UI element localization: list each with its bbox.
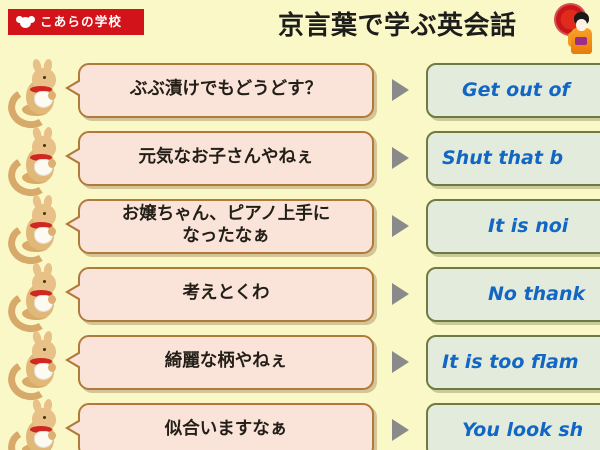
kyoto-phrase-text: 元気なお子さんやねぇ [129,147,324,169]
brand-ribbon[interactable]: こあらの学校 [8,9,144,35]
kyoto-phrase-bubble[interactable]: お嬢ちゃん、ピアノ上手に なったなぁ [78,199,374,254]
english-phrase-text: It is noi [428,215,568,238]
bubble-tail [65,79,80,97]
arrow-cell [374,419,426,441]
english-phrase-text: It is too flam [428,351,579,374]
bubble-tail [65,419,80,437]
english-phrase-panel[interactable]: It is noi [426,199,600,254]
maiko-with-parasol-icon [553,2,597,54]
kyoto-phrase-text: 綺麗な柄やねぇ [155,351,298,373]
page-header: こあらの学校 京言葉で学ぶ英会話 [0,0,600,56]
kyoto-phrase-bubble[interactable]: 考えとくわ [78,267,374,322]
play-arrow-icon [392,147,409,169]
kyoto-phrase-bubble[interactable]: 綺麗な柄やねぇ [78,335,374,390]
kyoto-phrase-text: ぶぶ漬けでもどうどす？ [120,79,332,101]
english-phrase-panel[interactable]: No thank [426,267,600,322]
kyoto-phrase-text: お嬢ちゃん、ピアノ上手に なったなぁ [112,204,340,248]
play-arrow-icon [392,215,409,237]
english-phrase-panel[interactable]: Shut that b [426,131,600,186]
arrow-cell [374,351,426,373]
english-phrase-panel[interactable]: Get out of [426,63,600,118]
arrow-cell [374,215,426,237]
kyoto-phrase-text: 考えとくわ [173,283,280,305]
bubble-tail [65,283,80,301]
phrase-row: 元気なお子さんやねぇShut that b [0,124,600,192]
bubble-tail [65,351,80,369]
english-phrase-panel[interactable]: You look sh [426,403,600,450]
play-arrow-icon [392,419,409,441]
english-phrase-text: Get out of [428,79,570,102]
arrow-cell [374,283,426,305]
kyoto-phrase-bubble[interactable]: 元気なお子さんやねぇ [78,131,374,186]
phrase-list: ぶぶ漬けでもどうどす？Get out of元気なお子さんやねぇShut that… [0,56,600,450]
page-title: 京言葉で学ぶ英会話 [278,9,517,43]
play-arrow-icon [392,79,409,101]
english-phrase-text: You look sh [428,419,583,442]
arrow-cell [374,147,426,169]
english-phrase-text: No thank [428,283,585,306]
arrow-cell [374,79,426,101]
kyoto-phrase-bubble[interactable]: 似合いますなぁ [78,403,374,450]
phrase-row: 似合いますなぁYou look sh [0,396,600,450]
phrase-row: 綺麗な柄やねぇIt is too flam [0,328,600,396]
phrase-row: ぶぶ漬けでもどうどす？Get out of [0,56,600,124]
kyoto-phrase-text: 似合いますなぁ [155,419,298,441]
play-arrow-icon [392,283,409,305]
koala-face-icon [17,16,34,29]
kyoto-phrase-bubble[interactable]: ぶぶ漬けでもどうどす？ [78,63,374,118]
english-phrase-text: Shut that b [428,147,563,170]
brand-label: こあらの学校 [40,16,122,29]
bubble-tail [65,147,80,165]
bubble-tail [65,215,80,233]
page-root: こあらの学校 京言葉で学ぶ英会話 ぶぶ漬けでもどうどす？Get out of元気… [0,0,600,450]
english-phrase-panel[interactable]: It is too flam [426,335,600,390]
phrase-row: お嬢ちゃん、ピアノ上手に なったなぁIt is noi [0,192,600,260]
play-arrow-icon [392,351,409,373]
phrase-row: 考えとくわNo thank [0,260,600,328]
